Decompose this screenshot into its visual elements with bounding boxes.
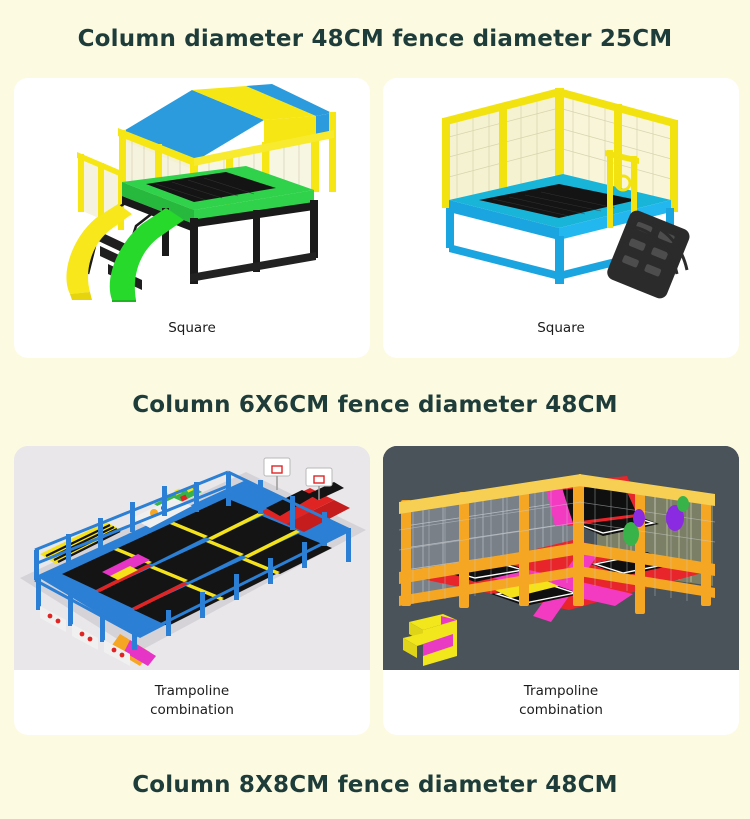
indoor-trampoline-park-illustration: [14, 446, 370, 670]
square-trampoline-enclosure-illustration: [383, 78, 739, 302]
product-image-4: [383, 446, 739, 670]
section-heading-2: Column 6X6CM fence diameter 48CM: [0, 392, 750, 420]
product-caption-2: Square: [383, 302, 739, 358]
section-heading-3: Column 8X8CM fence diameter 48CM: [0, 772, 750, 800]
product-image-1: [14, 78, 370, 302]
product-card-3[interactable]: Trampoline combination: [14, 446, 370, 735]
product-card-1[interactable]: Square: [14, 78, 370, 358]
product-image-2: [383, 78, 739, 302]
product-card-4[interactable]: Trampoline combination: [383, 446, 739, 735]
orange-frame-trampoline-illustration: [383, 446, 739, 670]
product-card-2[interactable]: Square: [383, 78, 739, 358]
product-image-3: [14, 446, 370, 670]
section-heading-1: Column diameter 48CM fence diameter 25CM: [0, 26, 750, 54]
product-catalog-page: Column diameter 48CM fence diameter 25CM: [0, 0, 750, 819]
product-caption-1: Square: [14, 302, 370, 358]
product-caption-3: Trampoline combination: [14, 670, 370, 735]
trampoline-with-slide-and-canopy-illustration: [14, 78, 370, 302]
product-caption-4: Trampoline combination: [383, 670, 739, 735]
